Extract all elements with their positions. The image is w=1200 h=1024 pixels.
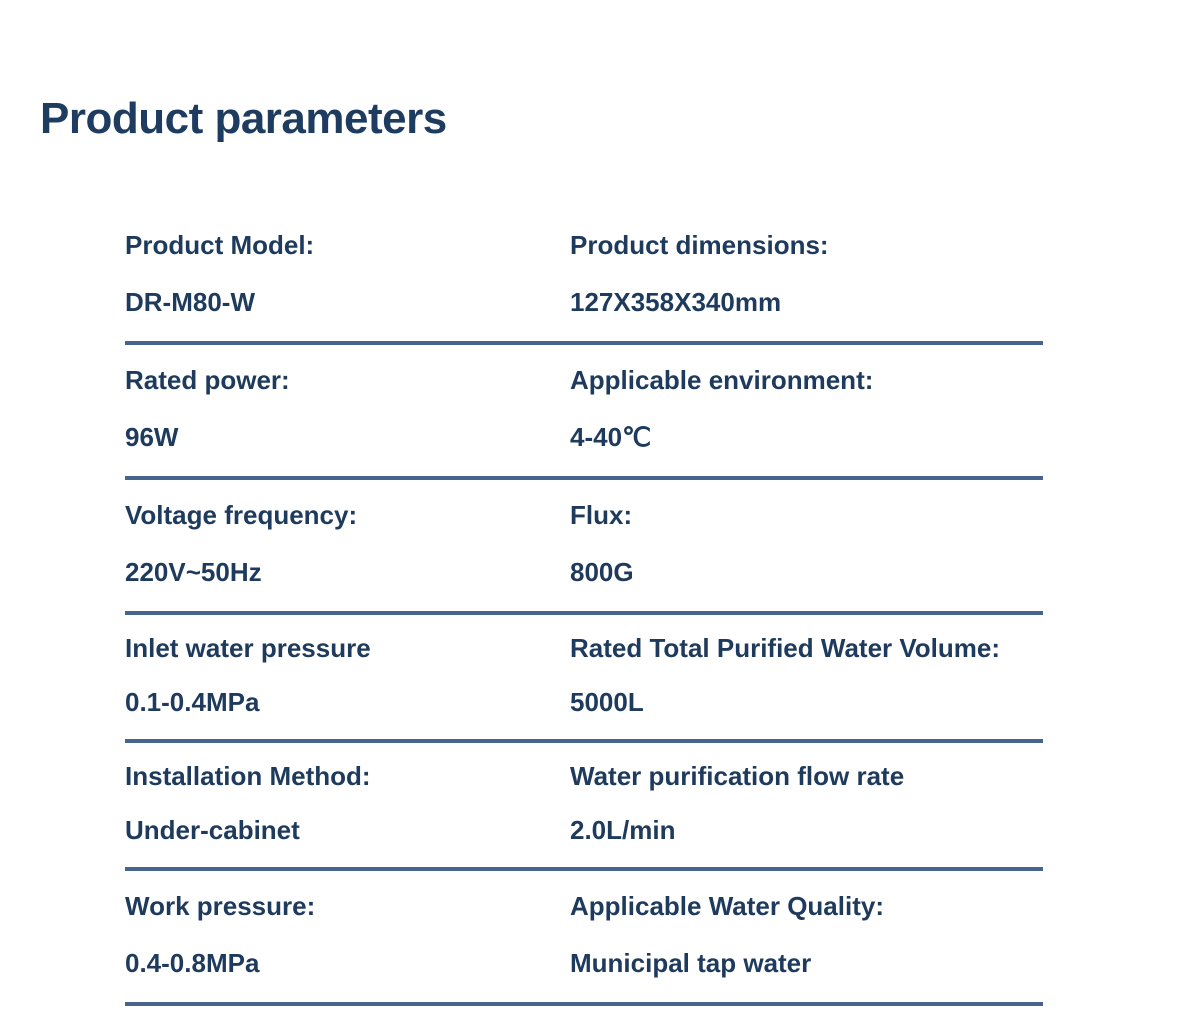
spec-label: Rated power: [125,367,570,393]
page-title: Product parameters [40,95,447,143]
table-cell-right: Flux: 800G [570,480,1043,611]
table-row: Inlet water pressure 0.1-0.4MPa Rated To… [125,615,1043,743]
spec-label: Installation Method: [125,763,570,789]
table-cell-right: Water purification flow rate 2.0L/min [570,743,1043,867]
table-cell-left: Product Model: DR-M80-W [125,210,570,341]
spec-label: Inlet water pressure [125,635,570,661]
specification-table: Product Model: DR-M80-W Product dimensio… [125,210,1043,1006]
spec-value: 0.1-0.4MPa [125,689,570,715]
product-parameters-page: Product parameters Product Model: DR-M80… [0,0,1200,1024]
table-cell-right: Rated Total Purified Water Volume: 5000L [570,615,1043,739]
spec-value: 127X358X340mm [570,289,1043,315]
spec-value: 4-40℃ [570,424,1043,450]
spec-label: Product dimensions: [570,232,1043,258]
spec-label: Applicable Water Quality: [570,893,1043,919]
spec-label: Rated Total Purified Water Volume: [570,635,1043,661]
table-cell-left: Rated power: 96W [125,345,570,476]
spec-label: Flux: [570,502,1043,528]
table-row: Voltage frequency: 220V~50Hz Flux: 800G [125,480,1043,615]
table-row: Product Model: DR-M80-W Product dimensio… [125,210,1043,345]
table-cell-right: Product dimensions: 127X358X340mm [570,210,1043,341]
spec-value: DR-M80-W [125,289,570,315]
table-cell-left: Voltage frequency: 220V~50Hz [125,480,570,611]
table-cell-right: Applicable environment: 4-40℃ [570,345,1043,476]
spec-value: 220V~50Hz [125,559,570,585]
spec-value: 96W [125,424,570,450]
table-cell-right: Applicable Water Quality: Municipal tap … [570,871,1043,1002]
table-row: Installation Method: Under-cabinet Water… [125,743,1043,871]
spec-value: 5000L [570,689,1043,715]
spec-label: Water purification flow rate [570,763,1043,789]
table-cell-left: Installation Method: Under-cabinet [125,743,570,867]
spec-value: 0.4-0.8MPa [125,950,570,976]
table-cell-left: Inlet water pressure 0.1-0.4MPa [125,615,570,739]
spec-label: Product Model: [125,232,570,258]
table-row: Rated power: 96W Applicable environment:… [125,345,1043,480]
spec-label: Applicable environment: [570,367,1043,393]
spec-value: Municipal tap water [570,950,1043,976]
table-cell-left: Work pressure: 0.4-0.8MPa [125,871,570,1002]
spec-value: Under-cabinet [125,817,570,843]
spec-label: Voltage frequency: [125,502,570,528]
table-row: Work pressure: 0.4-0.8MPa Applicable Wat… [125,871,1043,1006]
spec-value: 2.0L/min [570,817,1043,843]
spec-value: 800G [570,559,1043,585]
spec-label: Work pressure: [125,893,570,919]
